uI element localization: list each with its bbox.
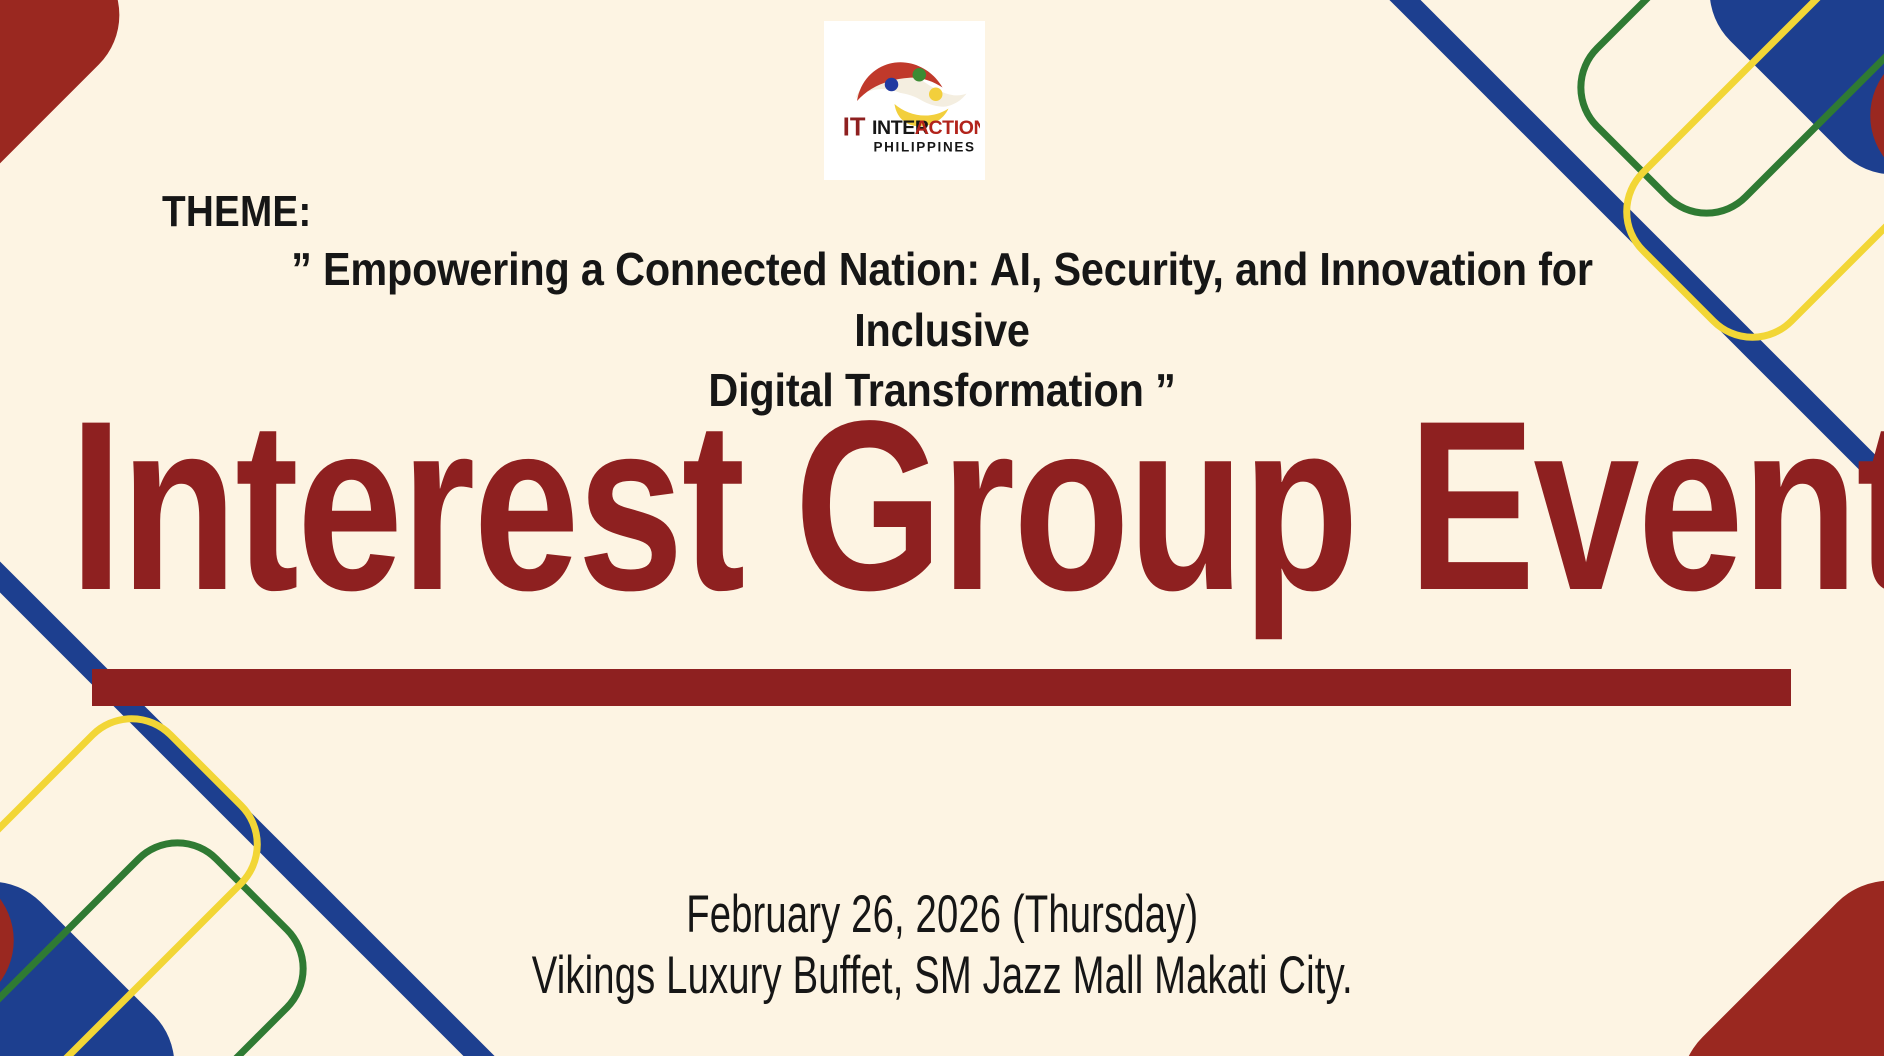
theme-statement-line-1: ” Empowering a Connected Nation: AI, Sec…: [222, 239, 1662, 360]
event-date: February 26, 2026 (Thursday): [686, 883, 1198, 949]
logo-dot-green: [912, 68, 926, 82]
title-underline-bar: [92, 669, 1791, 706]
page-title: Interest Group Event: [0, 392, 1884, 587]
event-venue: Vikings Luxury Buffet, SM Jazz Mall Maka…: [531, 944, 1352, 1010]
theme-label: THEME:: [162, 190, 1677, 235]
event-poster: IT INTER ACTION PHILIPPINES THEME: ” Emp…: [0, 0, 1884, 1056]
logo-text-it: IT: [842, 113, 865, 141]
event-details: February 26, 2026 (Thursday) Vikings Lux…: [0, 885, 1884, 1008]
page-title-text: Interest Group Event: [70, 392, 1884, 622]
logo-dot-blue: [884, 77, 898, 91]
event-venue-line: Vikings Luxury Buffet, SM Jazz Mall Maka…: [0, 946, 1884, 1007]
logo-text-philippines: PHILIPPINES: [873, 139, 975, 154]
event-date-line: February 26, 2026 (Thursday): [0, 885, 1884, 946]
organization-logo: IT INTER ACTION PHILIPPINES: [824, 21, 985, 180]
logo-dot-yellow: [929, 87, 943, 101]
logo-text-action: ACTION: [914, 117, 979, 139]
it-interaction-philippines-logo-mark: IT INTER ACTION PHILIPPINES: [830, 26, 980, 176]
